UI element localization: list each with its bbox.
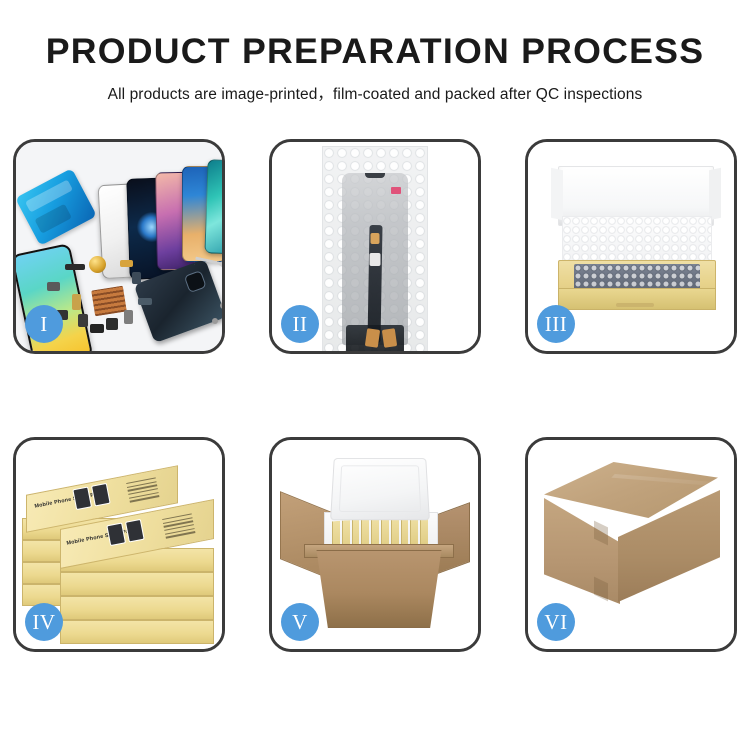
step-panel-v[interactable]: V [269,437,481,652]
step-panel-iv[interactable]: Mobile Phone Spare Parts Mobile Phone Sp… [13,437,225,652]
step-badge-i: I [25,305,63,343]
bubble-wrap-bag [322,146,428,351]
page-header: PRODUCT PREPARATION PROCESS All products… [0,0,750,104]
step-panel-vi[interactable]: VI [525,437,737,652]
foam-cooler-lid [330,458,430,520]
connector-right [365,328,380,348]
step-badge-ii: II [281,305,319,343]
process-steps-grid: I II [0,139,750,652]
connector-left [382,328,397,348]
step-badge-iii: III [537,305,575,343]
step-panel-i[interactable]: I [13,139,225,354]
qc-sticker [391,187,401,194]
driver-ic [370,253,381,266]
connector-gold [371,233,380,244]
screen-notch [365,173,385,178]
shielding-mesh-icon [91,286,127,317]
step-badge-v: V [281,603,319,641]
carton-body [308,550,450,628]
phone-screen-teal [204,159,222,254]
step-badge-iv: IV [25,603,63,641]
page-title: PRODUCT PREPARATION PROCESS [0,34,750,69]
step-panel-ii[interactable]: II [269,139,481,354]
step-panel-iii[interactable]: III [525,139,737,354]
page-subtitle: All products are image-printed，film-coat… [0,82,750,104]
speaker-module-icon [89,256,106,273]
box-notch [616,303,654,307]
step-badge-vi: VI [537,603,575,641]
